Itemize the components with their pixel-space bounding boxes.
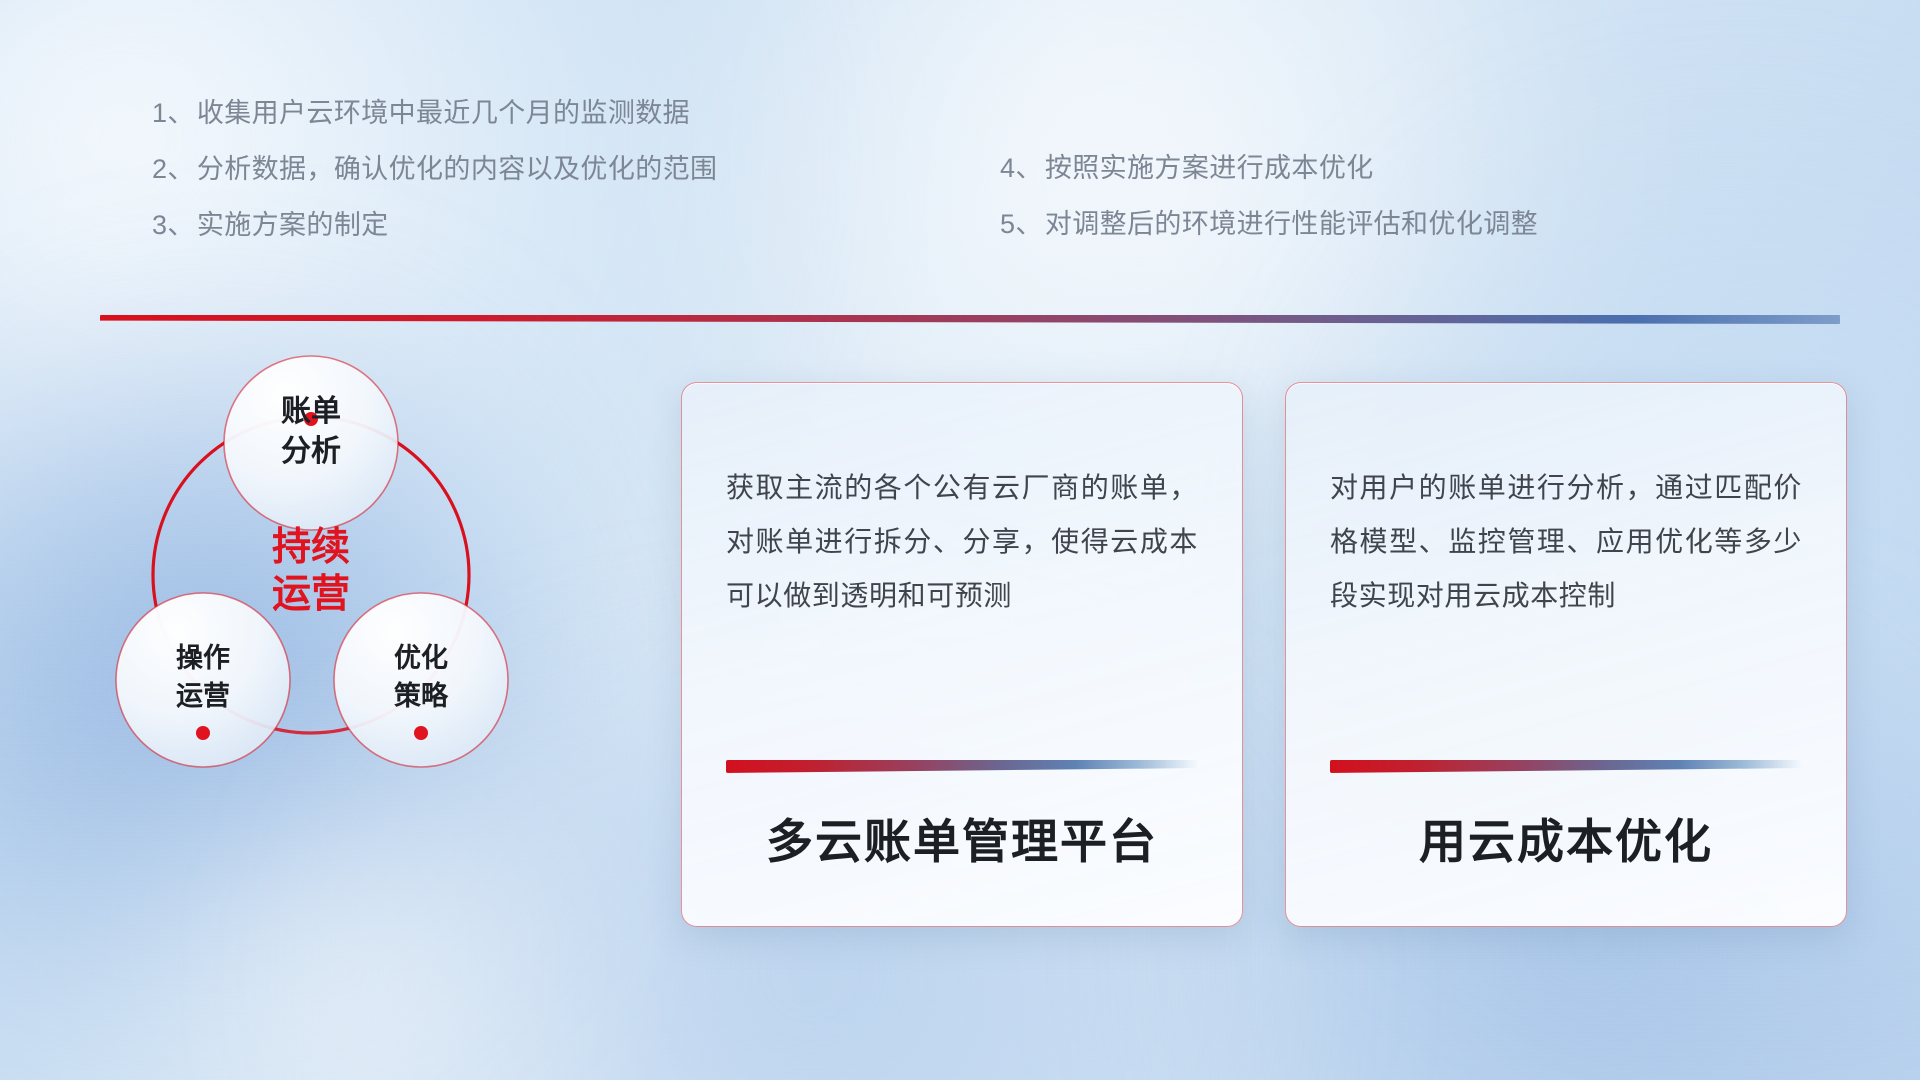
step-text: 对调整后的环境进行性能评估和优化调整 xyxy=(1045,211,1538,238)
step-item-4: 4、 按照实施方案进行成本优化 xyxy=(1000,155,1538,182)
card-title: 多云账单管理平台 xyxy=(726,773,1198,926)
card-multi-cloud-billing-platform[interactable]: 获取主流的各个公有云厂商的账单，对账单进行拆分、分享，使得云成本可以做到透明和可… xyxy=(681,382,1243,927)
venn-dot-bottom-left xyxy=(196,726,210,740)
step-text: 实施方案的制定 xyxy=(197,212,389,239)
step-text: 收集用户云环境中最近几个月的监测数据 xyxy=(197,100,690,127)
continuous-operation-venn-diagram: 账单 分析 操作 运营 优化 策略 持续 运营 xyxy=(95,355,615,915)
venn-dot-bottom-right xyxy=(414,726,428,740)
venn-label-billing-analysis-line2: 分析 xyxy=(281,435,341,468)
step-text: 按照实施方案进行成本优化 xyxy=(1045,155,1374,182)
card-body-text: 对用户的账单进行分析，通过匹配价格模型、监控管理、应用优化等多少段实现对用云成本… xyxy=(1330,461,1802,622)
venn-bubble-optimization-strategy xyxy=(334,593,508,767)
steps-list-right: 4、 按照实施方案进行成本优化 5、 对调整后的环境进行性能评估和优化调整 xyxy=(1000,155,1538,267)
venn-label-operations-line2: 运营 xyxy=(176,681,230,711)
step-item-5: 5、 对调整后的环境进行性能评估和优化调整 xyxy=(1000,211,1538,238)
venn-label-optimization-line1: 优化 xyxy=(394,643,448,673)
steps-list-left: 1、 收集用户云环境中最近几个月的监测数据 2、 分析数据，确认优化的内容以及优… xyxy=(152,100,717,268)
venn-label-optimization-line2: 策略 xyxy=(394,680,449,711)
step-number: 3、 xyxy=(152,212,195,239)
step-number: 2、 xyxy=(152,156,195,183)
card-cloud-cost-optimization[interactable]: 对用户的账单进行分析，通过匹配价格模型、监控管理、应用优化等多少段实现对用云成本… xyxy=(1285,382,1847,927)
venn-label-operations-line1: 操作 xyxy=(176,643,230,673)
venn-bubble-operations xyxy=(116,593,290,767)
step-number: 4、 xyxy=(1000,155,1043,182)
venn-center-label-line1: 持续 xyxy=(272,526,350,569)
card-title: 用云成本优化 xyxy=(1330,773,1802,926)
step-item-3: 3、 实施方案的制定 xyxy=(152,212,717,239)
venn-label-billing-analysis-line1: 账单 xyxy=(281,395,341,428)
step-item-1: 1、 收集用户云环境中最近几个月的监测数据 xyxy=(152,100,717,127)
card-divider-gradient xyxy=(1330,760,1802,773)
step-number: 1、 xyxy=(152,100,195,127)
step-text: 分析数据，确认优化的内容以及优化的范围 xyxy=(197,156,718,183)
card-body-text: 获取主流的各个公有云厂商的账单，对账单进行拆分、分享，使得云成本可以做到透明和可… xyxy=(726,461,1198,622)
step-number: 5、 xyxy=(1000,211,1043,238)
venn-center-label-line2: 运营 xyxy=(272,573,350,616)
step-item-2: 2、 分析数据，确认优化的内容以及优化的范围 xyxy=(152,156,717,183)
card-divider-gradient xyxy=(726,760,1198,773)
